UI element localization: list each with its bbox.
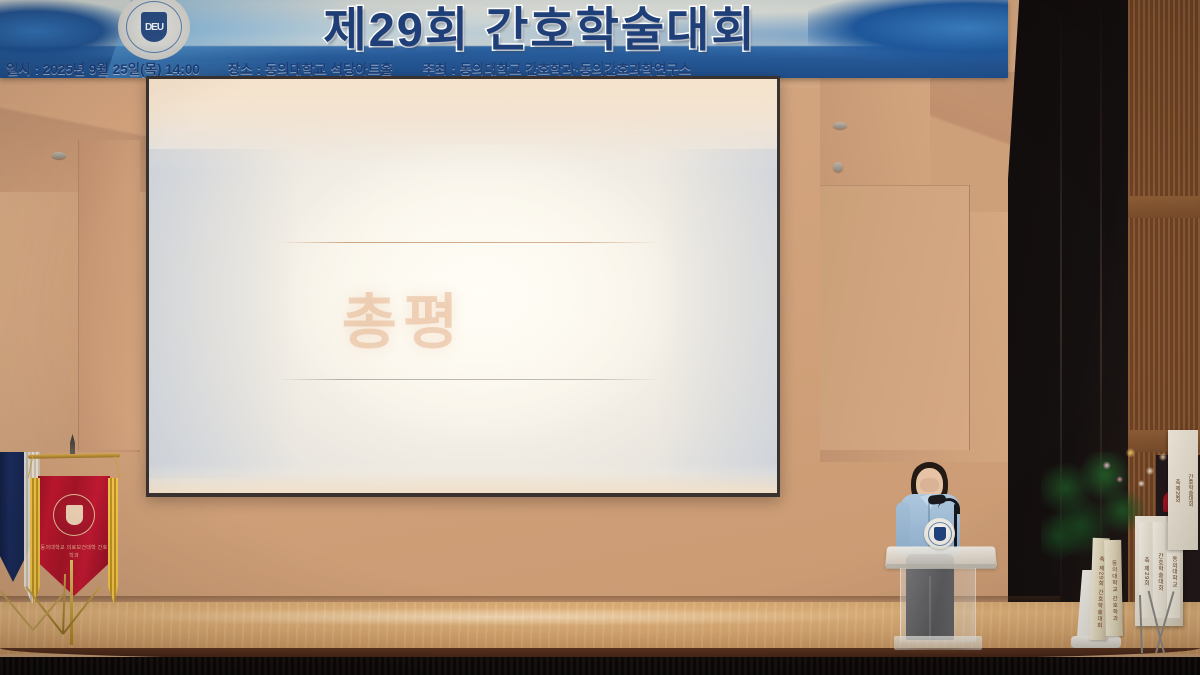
wreath2-text-line-2: 간호학술대회 — [1184, 435, 1196, 543]
congratulatory-wreath-secondary: 축 제29회 간호학술대회 — [1168, 430, 1198, 550]
event-banner: DEU 제29회 간호학술대회 일시 : 2025년 9월 25일(목) 14:… — [0, 0, 1008, 78]
projection-screen: 총평 — [146, 76, 780, 497]
floor-reflection — [120, 608, 880, 626]
podium-university-emblem-icon — [924, 518, 955, 549]
wall-recess-right — [820, 185, 970, 450]
blue-flag-tripod-stand — [0, 578, 78, 630]
flag-finial-icon — [70, 434, 75, 456]
flag-department-text: 동의대학교 의료보건대학 간호학과 — [40, 544, 108, 560]
banner-date-label: 일시 : 2025년 9월 25일(목) 14:00 — [6, 58, 200, 78]
stage-photo-scene: DEU 제29회 간호학술대회 일시 : 2025년 9월 25일(목) 14:… — [0, 0, 1200, 675]
wreath2-text-line-1: 축 제29회 — [1171, 435, 1183, 543]
flag-cord-left — [28, 456, 34, 478]
speaker-face — [920, 478, 939, 492]
flag-cord-right — [115, 456, 121, 478]
slide-divider-bottom — [279, 379, 659, 380]
wreath-text-line-2: 간호학술대회 — [1153, 522, 1166, 618]
wall-fixture-left-icon — [52, 152, 66, 159]
flag-crossbar — [28, 453, 120, 459]
podium-shadow — [890, 648, 988, 654]
crest-shield-text: DEU — [141, 12, 167, 42]
slat-band — [1128, 196, 1200, 218]
wall-fixture-right-icon — [833, 122, 847, 129]
microphone-stem — [954, 504, 957, 548]
tripod-leg — [0, 591, 33, 630]
banner-place-label: 장소 : 동의대학교 석당아트홀 — [228, 58, 393, 78]
projection-screen-surface: 총평 — [149, 79, 777, 493]
flag-crest-shield-icon — [66, 505, 83, 525]
banner-host-label: 주최 : 동의대학교 간호학과·동의간호과학연구소 — [423, 58, 692, 78]
podium-emblem-shield-icon — [934, 527, 946, 541]
flag-university-crest-icon — [53, 494, 95, 536]
slide-divider-top — [279, 242, 659, 243]
stage-floor — [0, 602, 1200, 654]
tripod-leg — [32, 591, 65, 630]
wall-recess-left — [78, 140, 140, 450]
banner-info-row: 일시 : 2025년 9월 25일(목) 14:00 장소 : 동의대학교 석당… — [0, 57, 1008, 78]
flower-ribbon-right: 동의대학교 간호학과 — [1104, 540, 1123, 636]
screen-warm-bottom-glare — [149, 463, 777, 493]
banner-main-title: 제29회 간호학술대회 — [190, 0, 890, 54]
podium-area — [880, 450, 1005, 660]
slide-title-text: 총평 — [149, 274, 717, 361]
podium-body — [900, 568, 976, 642]
front-grille — [0, 657, 1200, 675]
wall-speaker-icon — [833, 162, 843, 172]
